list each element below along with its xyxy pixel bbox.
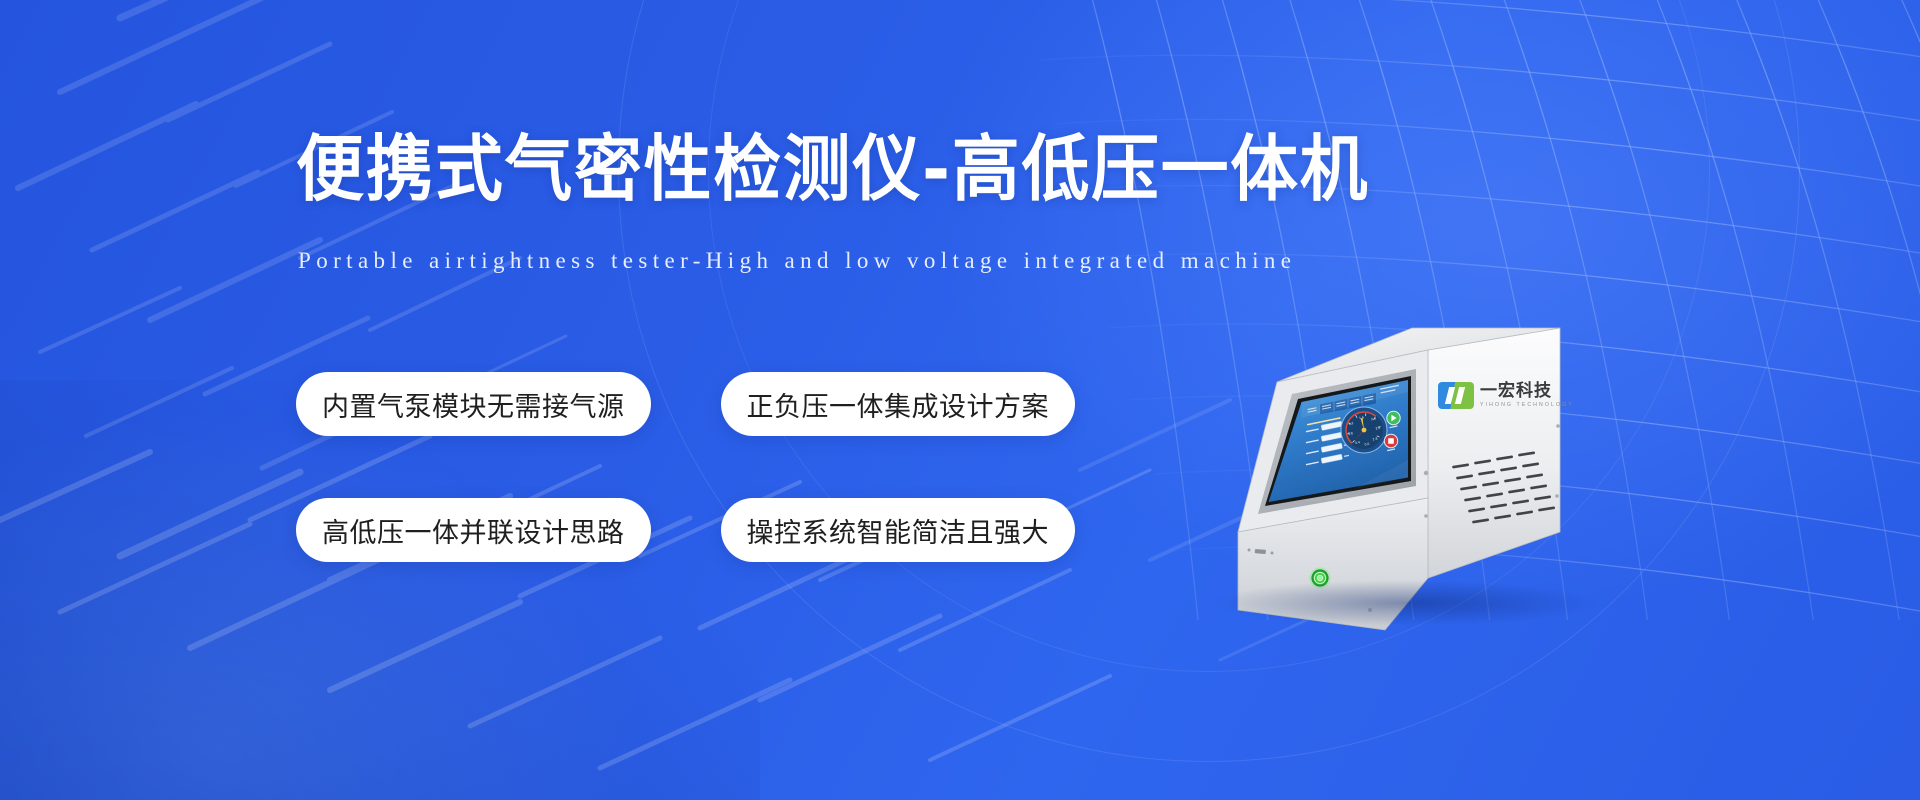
feature-pill-2[interactable]: 正负压一体集成设计方案 — [721, 372, 1076, 436]
page-title: 便携式气密性检测仪-高低压一体机 — [296, 126, 1369, 212]
feature-pill-list: 内置气泵模块无需接气源 正负压一体集成设计方案 高低压一体并联设计思路 操控系统… — [296, 372, 1126, 624]
feature-pill-row: 内置气泵模块无需接气源 正负压一体集成设计方案 — [296, 372, 1126, 436]
device-right-panel — [1428, 328, 1560, 578]
feature-pill-4[interactable]: 操控系统智能简洁且强大 — [721, 498, 1076, 562]
feature-pill-1[interactable]: 内置气泵模块无需接气源 — [296, 372, 651, 436]
brand-logo: 一宏科技 YIHONG TECHNOLOGY — [1438, 382, 1574, 409]
stop-icon — [1388, 438, 1394, 444]
device-drop-shadow — [1210, 580, 1600, 626]
page-subtitle: Portable airtightness tester-High and lo… — [298, 248, 1296, 274]
brand-name-en: YIHONG TECHNOLOGY — [1480, 403, 1574, 408]
brand-name-cn: 一宏科技 — [1480, 383, 1574, 400]
yihong-logo-mark — [1438, 382, 1474, 409]
feature-pill-row: 高低压一体并联设计思路 操控系统智能简洁且强大 — [296, 498, 1126, 562]
feature-pill-3[interactable]: 高低压一体并联设计思路 — [296, 498, 651, 562]
product-image: 1.2 1.6 2.0 2.4 2.8 0.4 0.8 0.0 — [1180, 310, 1640, 640]
promo-banner: 便携式气密性检测仪-高低压一体机 Portable airtightness t… — [0, 0, 1920, 800]
